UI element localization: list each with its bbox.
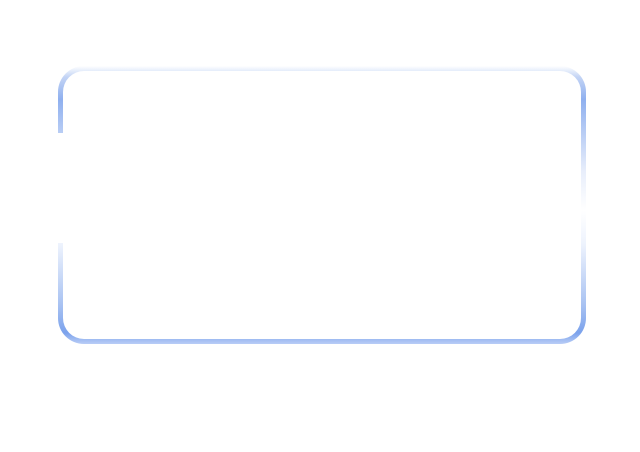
guitarist-photo [392,171,558,322]
flyer-title-english: Music Workshop [58,85,586,112]
flyer-title-japanese: 目からウロコのアドリブ術 Vol.47 [58,116,586,155]
open-time: 18:00 open [81,246,175,267]
flyer-content: Music Workshop 目からウロコのアドリブ術 Vol.47 Live … [58,66,586,344]
food-drink-note: enjoy our food and drink [137,317,360,339]
venue-name: Live & Sound Bar [106,158,341,184]
flyer-card: Church Music Workshop 目からウロコのアドリブ術 Vol.4… [58,66,586,344]
guitarist-photo-frame [388,167,562,326]
event-date: 2026年1月2日(金) [65,211,273,248]
